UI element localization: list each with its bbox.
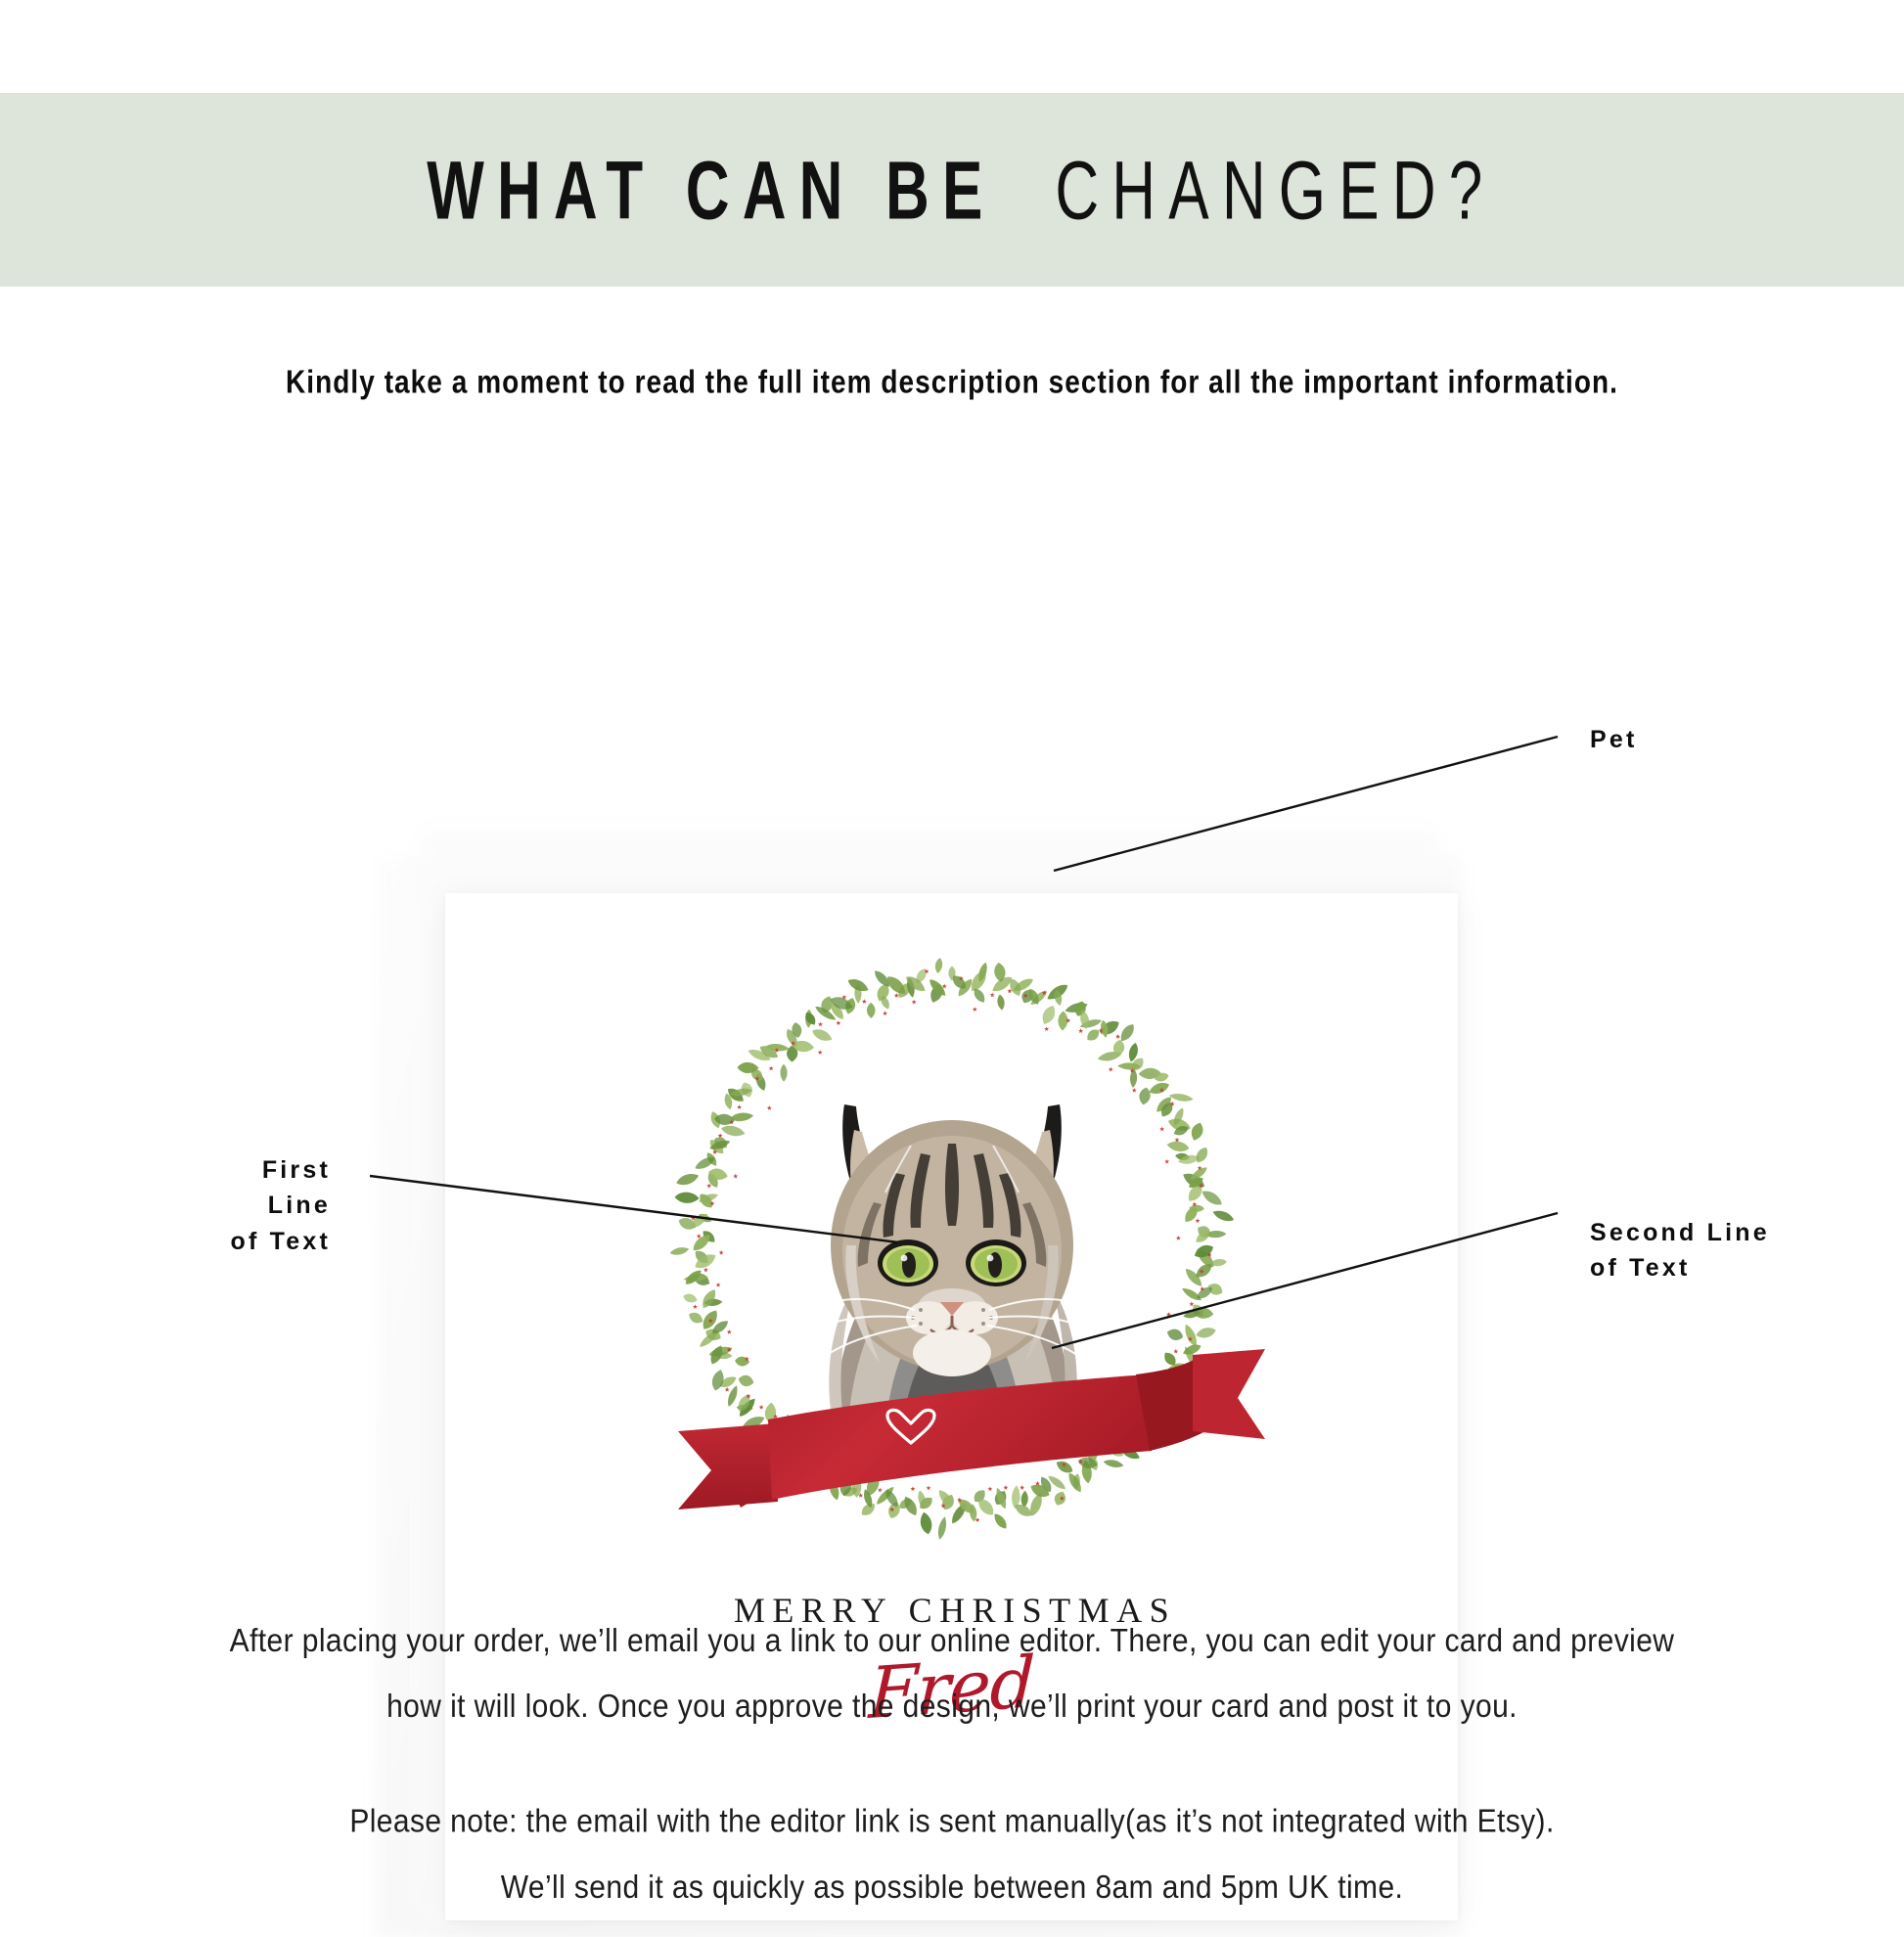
page-title: WHAT CAN BE CHANGED?	[409, 142, 1496, 237]
annotation-label-pet: Pet	[1590, 722, 1638, 757]
footer-para2-line2: We’ll send it as quickly as possible bet…	[0, 1863, 1904, 1913]
annotation-label-first-line: First Line of Text	[194, 1152, 331, 1259]
card-preview-stage: MERRY CHRISTMAS Fred	[0, 411, 1904, 1585]
page-title-bold: WHAT CAN BE	[427, 144, 995, 237]
wreath-artwork	[639, 923, 1265, 1568]
annotation-label-second-line: Second Line of Text	[1590, 1215, 1770, 1286]
footer-para2-line1: Please note: the email with the editor l…	[0, 1797, 1904, 1847]
page-title-light: CHANGED?	[1055, 144, 1495, 237]
header-band: WHAT CAN BE CHANGED?	[0, 93, 1904, 287]
footer-para1-line2: how it will look. Once you approve the d…	[0, 1682, 1904, 1732]
footer-para1-line1: After placing your order, we’ll email yo…	[0, 1616, 1904, 1666]
subtitle-note: Kindly take a moment to read the full it…	[0, 364, 1904, 401]
footer-spacer	[0, 1746, 1904, 1797]
footer-instructions: After placing your order, we’ll email yo…	[0, 1616, 1904, 1928]
